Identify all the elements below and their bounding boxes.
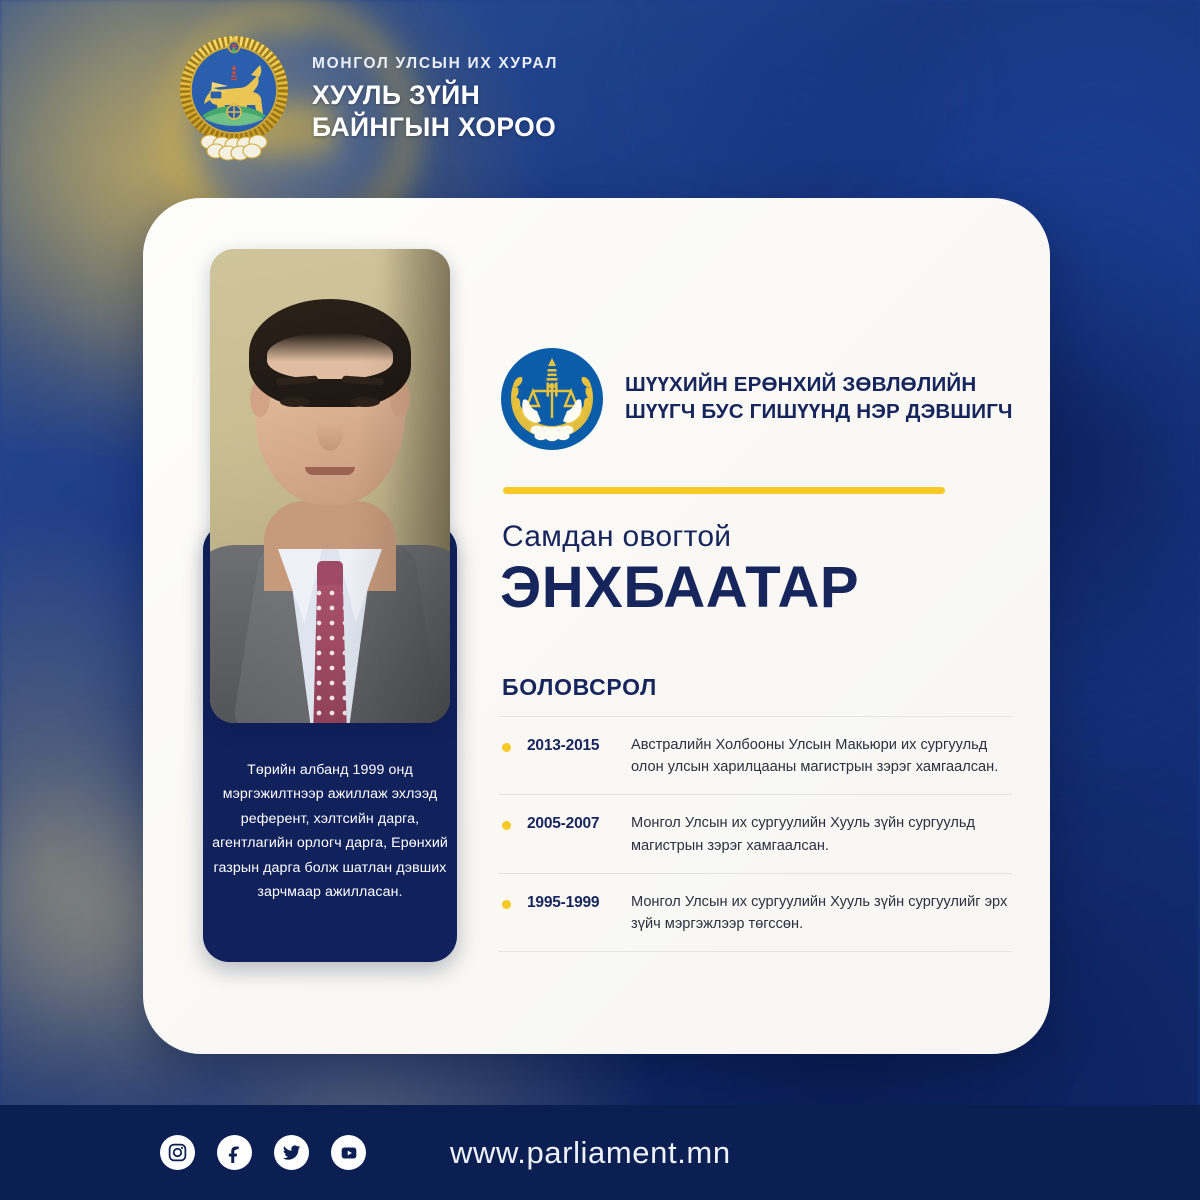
bullet-dot-icon xyxy=(502,821,511,830)
youtube-icon[interactable] xyxy=(331,1135,366,1170)
organization-header: ШҮҮХИЙН ЕРӨНХИЙ ЗӨВЛӨЛИЙН ШҮҮГЧ БУС ГИШҮ… xyxy=(499,346,1013,452)
mongolia-state-emblem-soyombo-icon xyxy=(178,34,290,164)
education-years: 1995-1999 xyxy=(527,894,631,912)
header-text-block: МОНГОЛ УЛСЫН ИХ ХУРАЛ ХУУЛЬ ЗҮЙН БАЙНГЫН… xyxy=(312,55,558,143)
education-row: 2013-2015 Австралийн Холбооны Улсын Макь… xyxy=(499,716,1012,794)
portrait-photo xyxy=(210,249,450,723)
education-description: Монгол Улсын их сургуулийн Хууль зүйн су… xyxy=(631,891,1012,935)
organization-title-line-1: ШҮҮХИЙН ЕРӨНХИЙ ЗӨВЛӨЛИЙН xyxy=(625,372,1013,399)
bullet-dot-icon xyxy=(502,900,511,909)
header-title-line-1: ХУУЛЬ ЗҮЙН xyxy=(312,80,558,111)
person-name: ЭНХБААТАР xyxy=(500,559,859,617)
education-section-title: БОЛОВСРОЛ xyxy=(502,674,657,701)
bullet-dot-icon xyxy=(502,743,511,752)
page-header: МОНГОЛ УЛСЫН ИХ ХУРАЛ ХУУЛЬ ЗҮЙН БАЙНГЫН… xyxy=(0,0,1200,198)
surname-label: Самдан овогтой xyxy=(502,520,731,554)
judicial-general-council-emblem-icon xyxy=(499,346,605,452)
organization-title: ШҮҮХИЙН ЕРӨНХИЙ ЗӨВЛӨЛИЙН ШҮҮГЧ БУС ГИШҮ… xyxy=(625,372,1013,426)
facebook-icon[interactable] xyxy=(217,1135,252,1170)
education-list: 2013-2015 Австралийн Холбооны Улсын Макь… xyxy=(499,716,1012,952)
header-title-line-2: БАЙНГЫН ХОРОО xyxy=(312,112,558,143)
page-footer: www.parliament.mn xyxy=(0,1105,1200,1200)
education-years: 2005-2007 xyxy=(527,815,631,833)
education-description: Монгол Улсын их сургуулийн Хууль зүйн су… xyxy=(631,812,1012,856)
header-subtitle: МОНГОЛ УЛСЫН ИХ ХУРАЛ xyxy=(312,55,558,73)
profile-card: Төрийн албанд 1999 онд мэргэжилтнээр ажи… xyxy=(143,198,1050,1054)
education-row: 2005-2007 Монгол Улсын их сургуулийн Хуу… xyxy=(499,794,1012,872)
gold-divider xyxy=(503,487,945,494)
education-row: 1995-1999 Монгол Улсын их сургуулийн Хуу… xyxy=(499,873,1012,952)
twitter-icon[interactable] xyxy=(274,1135,309,1170)
organization-title-line-2: ШҮҮГЧ БУС ГИШҮҮНД НЭР ДЭВШИГЧ xyxy=(625,399,1013,426)
social-links xyxy=(160,1135,366,1170)
instagram-icon[interactable] xyxy=(160,1135,195,1170)
education-years: 2013-2015 xyxy=(527,737,631,755)
website-url[interactable]: www.parliament.mn xyxy=(450,1135,731,1171)
biography-text: Төрийн албанд 1999 онд мэргэжилтнээр ажи… xyxy=(211,758,449,905)
education-description: Австралийн Холбооны Улсын Макьюри их сур… xyxy=(631,734,1012,778)
